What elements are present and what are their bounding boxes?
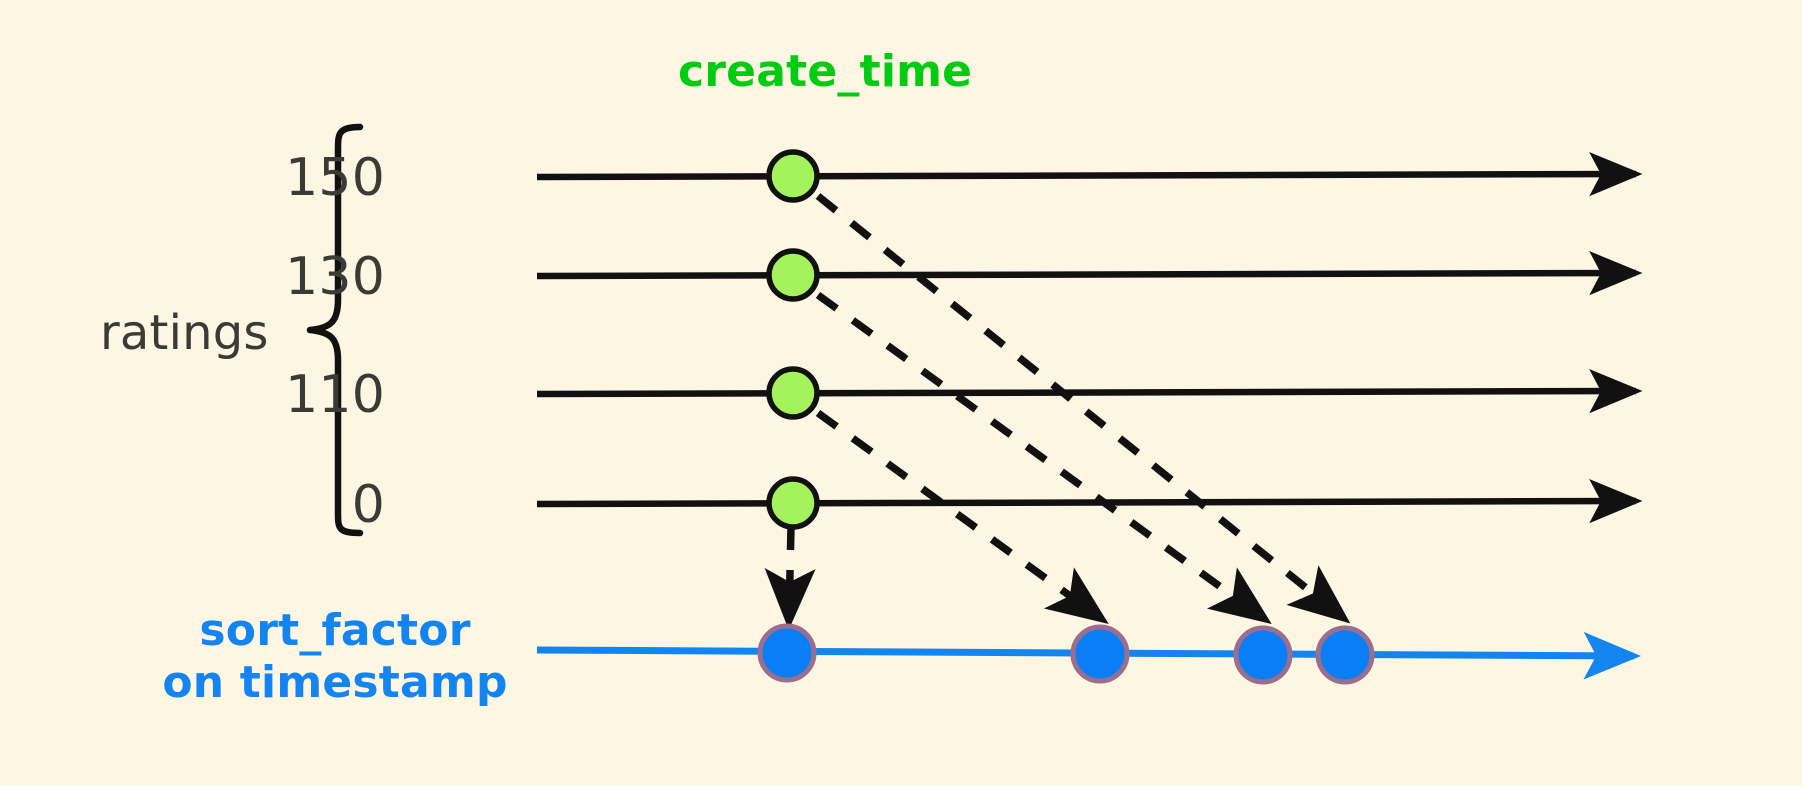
timeline-node-1[interactable] — [1073, 627, 1127, 681]
sort-factor-label-line-1: sort_factor — [150, 605, 520, 657]
timeline-node-2[interactable] — [1236, 628, 1290, 682]
rating-row-line-0 — [537, 501, 1636, 504]
rating-tick-150: 150 — [225, 148, 385, 208]
create-time-node-150[interactable] — [769, 152, 817, 200]
create-time-node-110[interactable] — [769, 369, 817, 417]
rating-row-line-130 — [537, 273, 1636, 276]
mapping-arrow-110 — [818, 413, 1099, 617]
create-time-label: create_time — [678, 46, 972, 97]
diagram-canvas: create_time ratings 150 130 110 0 sort_f… — [0, 0, 1802, 786]
mapping-arrow-0 — [789, 527, 791, 618]
timeline-node-3[interactable] — [1318, 628, 1372, 682]
rating-tick-110: 110 — [225, 365, 385, 425]
rating-row-line-150 — [537, 174, 1636, 177]
rating-tick-130: 130 — [225, 247, 385, 307]
rating-row-line-110 — [537, 391, 1636, 394]
timeline-node-0[interactable] — [760, 626, 814, 680]
sort-factor-label-line-2: on timestamp — [150, 657, 520, 709]
create-time-node-130[interactable] — [769, 251, 817, 299]
mapping-arrow-130 — [818, 295, 1262, 617]
create-time-node-0[interactable] — [769, 479, 817, 527]
mapping-arrow-150 — [818, 196, 1341, 616]
ratings-group-label: ratings — [100, 305, 269, 361]
rating-tick-0: 0 — [225, 475, 385, 535]
